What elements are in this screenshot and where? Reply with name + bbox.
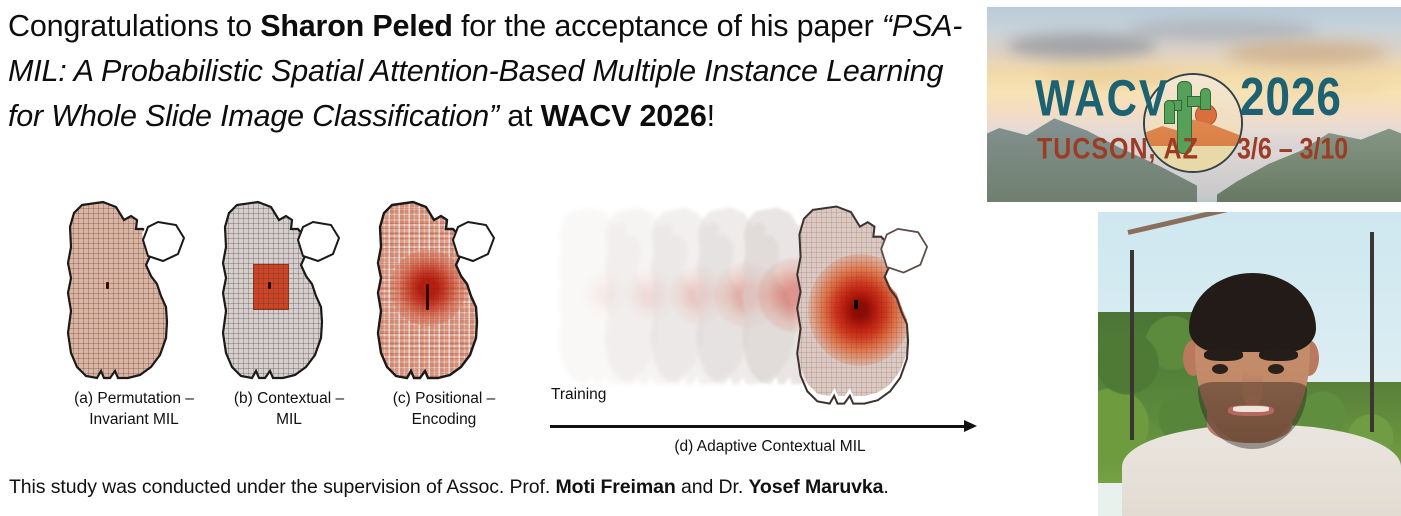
photo-nose (1242, 370, 1263, 406)
author-photo: Portrait photo of a man outdoors with tr… (1098, 212, 1401, 516)
panel-b: (b) Contextual – MIL (213, 198, 363, 380)
tissue-blob-shape (58, 198, 208, 380)
photo-teeth (1233, 406, 1269, 412)
training-arrow-head-icon (964, 420, 977, 432)
training-label: Training (551, 386, 606, 404)
wacv-logo-text: WACV (1035, 73, 1169, 124)
center-marker (854, 300, 858, 309)
photo-pole (1130, 250, 1134, 440)
supervisor-2-name: Yosef Maruvka (748, 476, 883, 498)
method-figure: (a) Permutation – Invariant MIL (b) Cont… (0, 190, 980, 470)
panel-a: (a) Permutation – Invariant MIL (58, 198, 208, 380)
footer-text-1: This study was conducted under the super… (9, 476, 556, 498)
wacv-city-text: TUCSON, AZ (1037, 135, 1199, 165)
patch-grid (213, 198, 363, 380)
panel-c-tissue (368, 198, 518, 380)
patch-grid (786, 202, 954, 398)
headline-text-2: for the acceptance of (453, 9, 742, 43)
center-marker (426, 284, 429, 310)
headline-text-5: ! (707, 99, 715, 133)
patch-grid (368, 198, 518, 380)
headline: Congratulations to Sharon Peled for the … (8, 4, 976, 139)
wacv-banner-image: WACV TUCSON, AZ 2026 3/6 – 3/10 (987, 7, 1401, 202)
headline-text-3: his paper (750, 9, 882, 43)
panel-a-tissue (58, 198, 208, 380)
center-marker (268, 282, 271, 289)
panel-d-caption: (d) Adaptive Contextual MIL (560, 438, 980, 456)
panel-d (548, 190, 980, 420)
headline-text-1: Congratulations to (8, 9, 260, 43)
tissue-blob-shape (368, 198, 518, 380)
tissue-blob-shape (786, 202, 954, 398)
footer-text-2: and Dr. (676, 476, 749, 498)
banner-cloud (1227, 41, 1387, 65)
panel-c: (c) Positional – Encoding (368, 198, 518, 380)
photo-brow-left (1204, 349, 1243, 361)
training-arrow-line (550, 425, 968, 428)
photo-pole (1370, 232, 1374, 432)
venue-name: WACV 2026 (541, 99, 707, 133)
headline-text-4: at (499, 99, 541, 133)
wacv-year-text: 2026 (1240, 71, 1342, 125)
wacv-dates-text: 3/6 – 3/10 (1237, 135, 1348, 165)
author-name: Sharon Peled (260, 9, 453, 43)
banner-cloud (1127, 19, 1317, 41)
photo-brow-right (1259, 349, 1298, 361)
banner-cloud (1007, 33, 1157, 59)
panel-b-tissue (213, 198, 363, 380)
center-marker (106, 282, 109, 289)
supervision-note: This study was conducted under the super… (9, 476, 889, 499)
supervisor-1-name: Moti Freiman (556, 476, 676, 498)
tissue-blob-shape (213, 198, 363, 380)
panel-d-final (786, 202, 954, 398)
panel-c-caption: (c) Positional – Encoding (346, 388, 542, 430)
patch-grid (58, 198, 208, 380)
footer-text-3: . (883, 476, 888, 498)
